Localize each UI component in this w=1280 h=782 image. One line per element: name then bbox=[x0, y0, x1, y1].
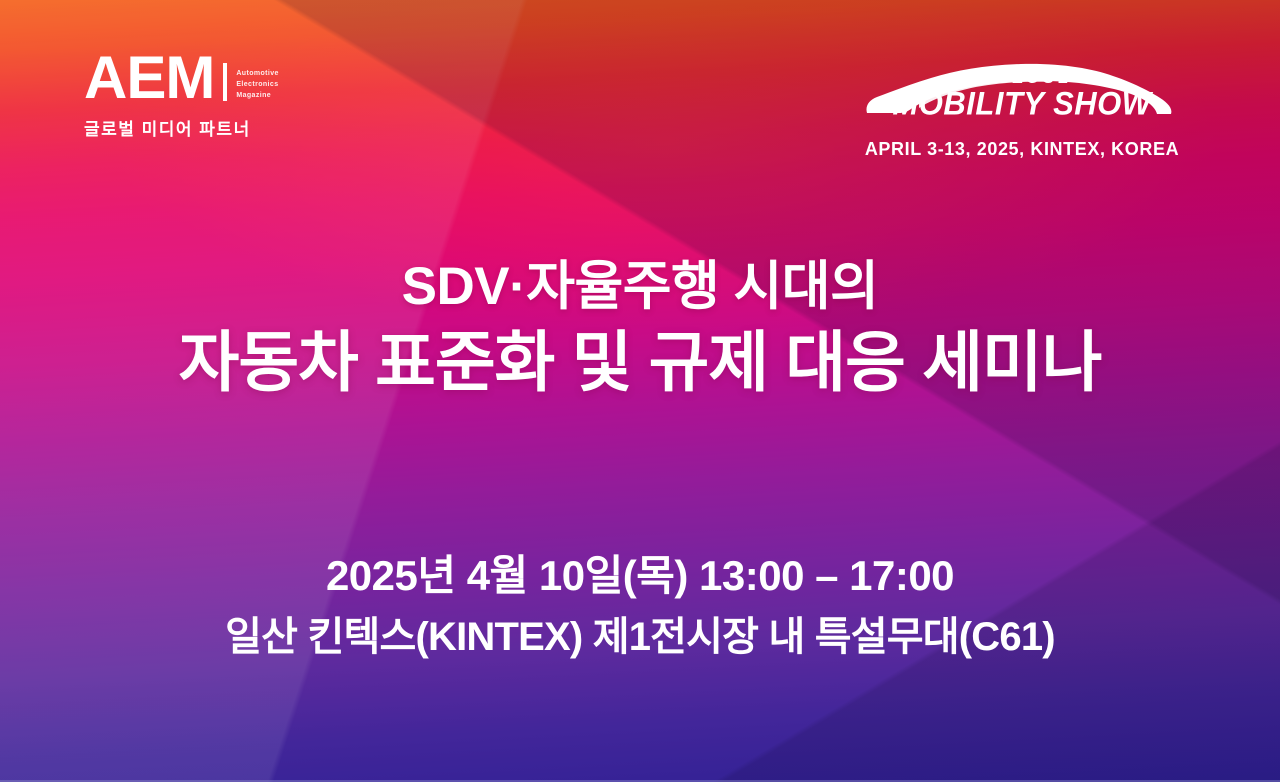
seoul-mobility-show-main-line: MOBILITY SHOW bbox=[845, 85, 1199, 123]
aem-wordmark: AEM bbox=[84, 52, 214, 104]
aem-micro-text: Automotive Electronics Magazine bbox=[236, 70, 279, 100]
aem-logo-row: AEM Automotive Electronics Magazine bbox=[84, 52, 344, 104]
aem-subtitle: 글로벌 미디어 파트너 bbox=[84, 115, 344, 140]
aem-partner-logo: AEM Automotive Electronics Magazine 글로벌 … bbox=[84, 52, 344, 140]
aem-micro-line-3: Magazine bbox=[236, 92, 279, 100]
poster-venue: 일산 킨텍스(KINTEX) 제1전시장 내 특설무대(C61) bbox=[0, 614, 1280, 660]
aem-micro-line-2: Electronics bbox=[236, 81, 279, 89]
seminar-poster: AEM Automotive Electronics Magazine 글로벌 … bbox=[0, 0, 1280, 782]
poster-title-line-1: SDV·자율주행 시대의 bbox=[0, 258, 1280, 315]
poster-title-block: SDV·자율주행 시대의 자동차 표준화 및 규제 대응 세미나 bbox=[0, 258, 1280, 399]
seoul-mobility-show-logo: SEOUL MOBILITY SHOW APRIL 3-13, 2025, KI… bbox=[822, 56, 1222, 160]
poster-title-line-2: 자동차 표준화 및 규제 대응 세미나 bbox=[0, 327, 1280, 398]
seoul-mobility-show-date-line: APRIL 3-13, 2025, KINTEX, KOREA bbox=[822, 139, 1222, 160]
poster-detail-block: 2025년 4월 10일(목) 13:00 – 17:00 일산 킨텍스(KIN… bbox=[0, 552, 1280, 660]
aem-divider-rule bbox=[223, 63, 227, 101]
poster-datetime: 2025년 4월 10일(목) 13:00 – 17:00 bbox=[0, 552, 1280, 600]
seoul-mobility-show-mark: SEOUL MOBILITY SHOW bbox=[845, 56, 1199, 130]
aem-micro-line-1: Automotive bbox=[236, 70, 279, 78]
